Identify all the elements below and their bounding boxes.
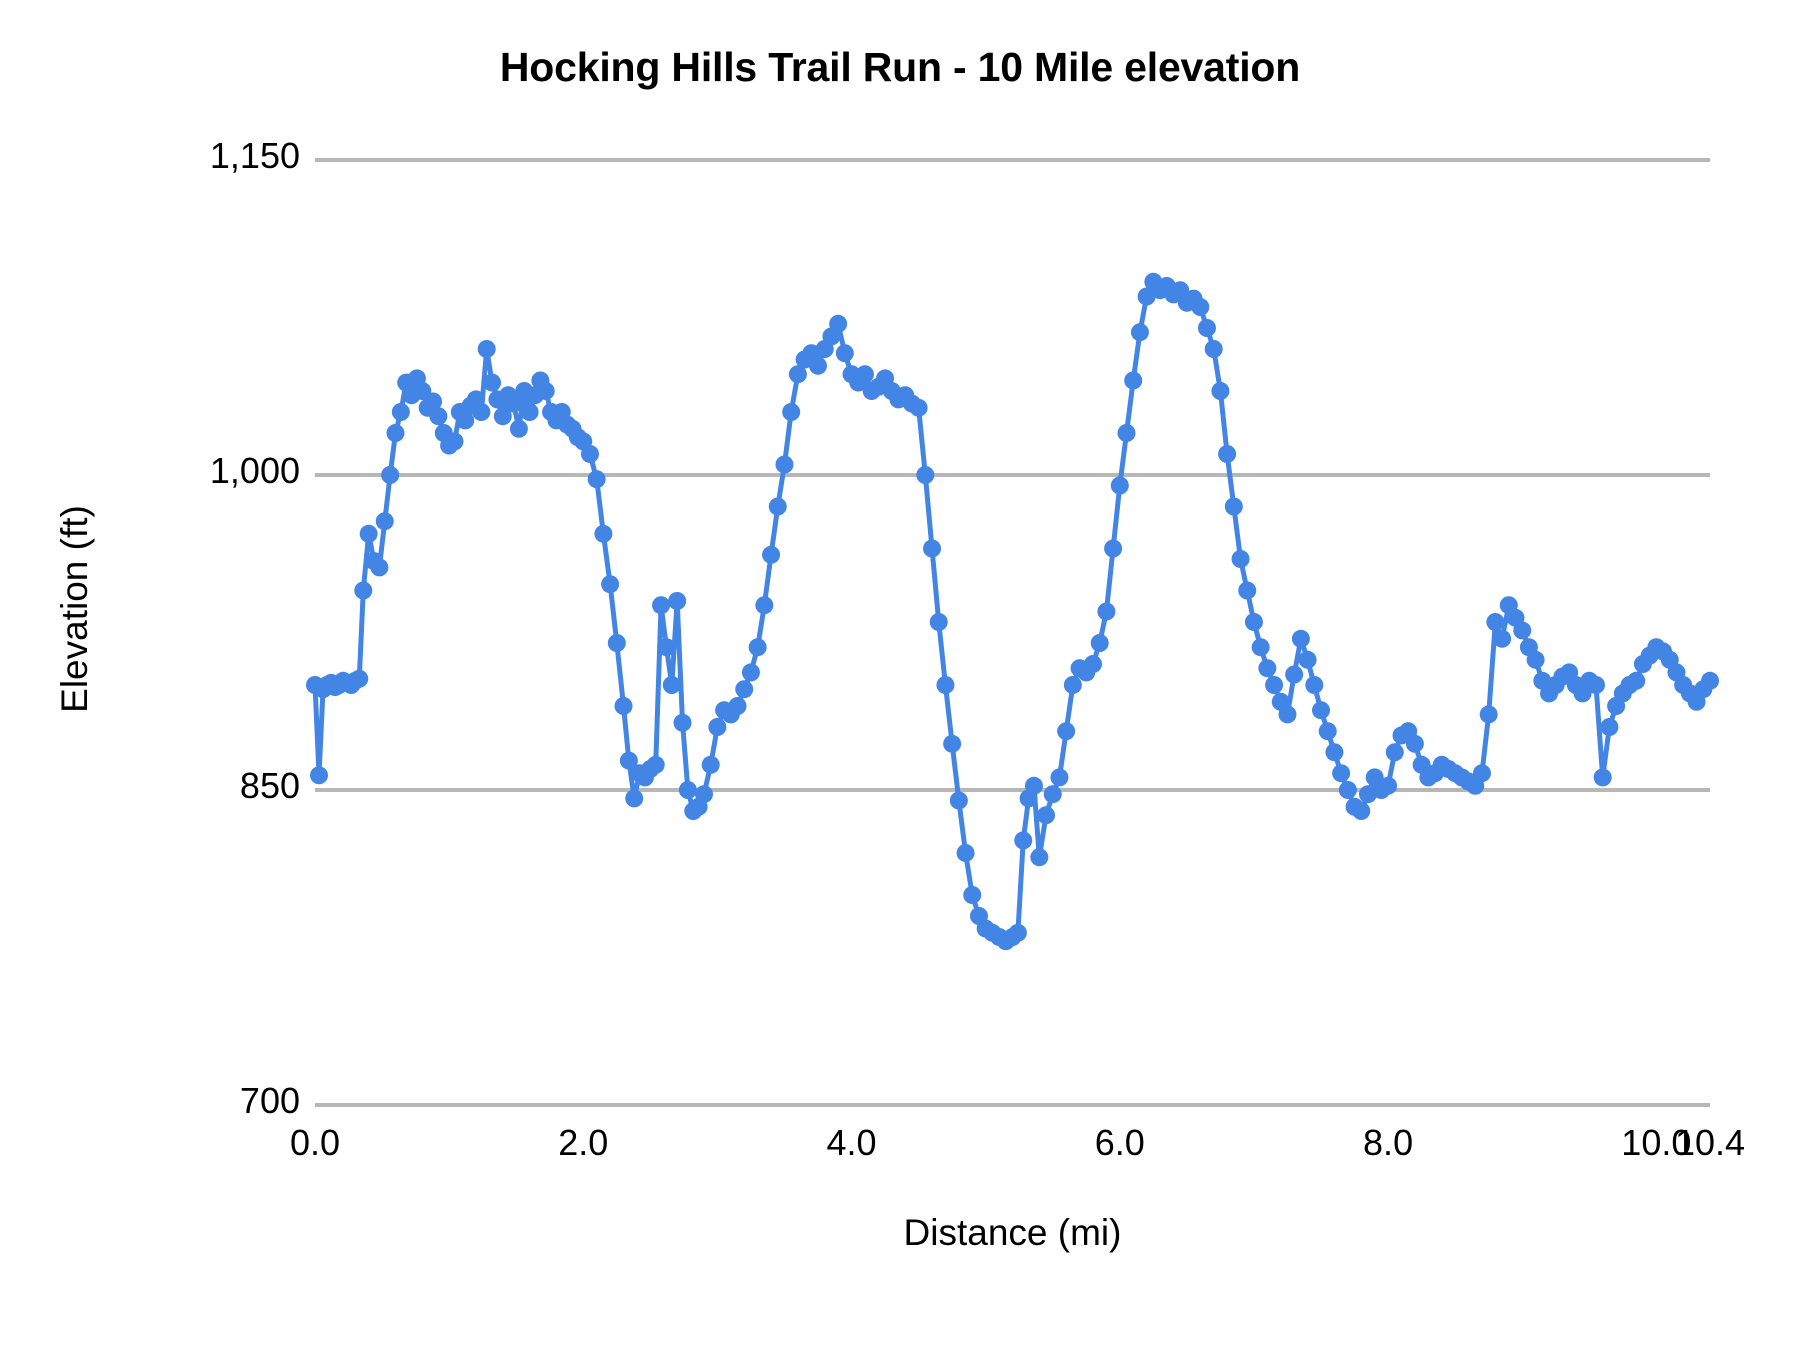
data-point[interactable] [392, 403, 410, 421]
data-point[interactable] [1278, 705, 1296, 723]
data-point[interactable] [1701, 672, 1719, 690]
data-point[interactable] [446, 432, 464, 450]
data-point[interactable] [1292, 630, 1310, 648]
data-point[interactable] [663, 676, 681, 694]
data-point[interactable] [674, 714, 692, 732]
data-point[interactable] [1486, 613, 1504, 631]
data-point[interactable] [472, 403, 490, 421]
data-point[interactable] [930, 613, 948, 631]
data-point[interactable] [1379, 777, 1397, 795]
data-point[interactable] [581, 445, 599, 463]
data-point[interactable] [916, 466, 934, 484]
data-point[interactable] [310, 766, 328, 784]
data-point[interactable] [1030, 848, 1048, 866]
data-point[interactable] [957, 844, 975, 862]
data-point[interactable] [1587, 676, 1605, 694]
data-point[interactable] [729, 697, 747, 715]
data-point[interactable] [829, 315, 847, 333]
x-axis-tick-label: 0.0 [290, 1122, 340, 1164]
data-point[interactable] [381, 466, 399, 484]
data-point[interactable] [1252, 638, 1270, 656]
y-axis-tick-label: 850 [120, 765, 300, 807]
data-point[interactable] [625, 789, 643, 807]
data-point[interactable] [1050, 768, 1068, 786]
data-point[interactable] [510, 420, 528, 438]
data-point[interactable] [1299, 651, 1317, 669]
data-point[interactable] [1025, 777, 1043, 795]
data-point[interactable] [647, 756, 665, 774]
x-axis-tick-label: 10.4 [1675, 1122, 1745, 1164]
data-point[interactable] [1473, 764, 1491, 782]
data-point[interactable] [1600, 718, 1618, 736]
data-point[interactable] [708, 718, 726, 736]
data-point[interactable] [354, 582, 372, 600]
data-point[interactable] [1104, 540, 1122, 558]
data-point[interactable] [1238, 582, 1256, 600]
data-point[interactable] [1064, 676, 1082, 694]
data-point[interactable] [1084, 655, 1102, 673]
x-axis-tick-label: 6.0 [1095, 1122, 1145, 1164]
data-point[interactable] [360, 525, 378, 543]
data-point[interactable] [735, 680, 753, 698]
data-point[interactable] [755, 596, 773, 614]
data-point[interactable] [1594, 768, 1612, 786]
data-point[interactable] [1352, 802, 1370, 820]
data-point[interactable] [1091, 634, 1109, 652]
series-line [315, 282, 1710, 941]
data-point[interactable] [1009, 924, 1027, 942]
y-axis-tick-label: 1,150 [120, 135, 300, 177]
data-point[interactable] [679, 781, 697, 799]
y-axis-tick-labels: 1,1501,000850700 [120, 160, 300, 1105]
data-point[interactable] [1225, 498, 1243, 516]
data-point[interactable] [1339, 781, 1357, 799]
data-point[interactable] [1191, 298, 1209, 316]
data-point[interactable] [836, 344, 854, 362]
data-point[interactable] [749, 638, 767, 656]
data-point[interactable] [1198, 319, 1216, 337]
data-point[interactable] [537, 382, 555, 400]
data-point[interactable] [1044, 785, 1062, 803]
data-point[interactable] [782, 403, 800, 421]
x-axis-title: Distance (mi) [315, 1212, 1710, 1254]
y-axis-tick-label: 1,000 [120, 450, 300, 492]
data-point[interactable] [1332, 764, 1350, 782]
data-point[interactable] [1319, 722, 1337, 740]
data-point[interactable] [615, 697, 633, 715]
data-point[interactable] [950, 792, 968, 810]
data-point[interactable] [1218, 445, 1236, 463]
data-point[interactable] [702, 756, 720, 774]
x-axis-tick-label: 4.0 [827, 1122, 877, 1164]
data-point[interactable] [1406, 735, 1424, 753]
data-point[interactable] [652, 596, 670, 614]
data-point[interactable] [1627, 672, 1645, 690]
x-axis-tick-label: 2.0 [558, 1122, 608, 1164]
data-point[interactable] [1305, 676, 1323, 694]
plot-area [315, 160, 1710, 1105]
data-point[interactable] [762, 546, 780, 564]
data-point[interactable] [1386, 743, 1404, 761]
chart-container: Hocking Hills Trail Run - 10 Mile elevat… [0, 0, 1800, 1350]
data-point[interactable] [657, 638, 675, 656]
data-point[interactable] [386, 424, 404, 442]
y-axis-tick-label: 700 [120, 1080, 300, 1122]
data-point[interactable] [1258, 659, 1276, 677]
data-point[interactable] [1480, 705, 1498, 723]
data-point[interactable] [376, 512, 394, 530]
data-point[interactable] [478, 340, 496, 358]
data-point[interactable] [856, 365, 874, 383]
x-axis-tick-labels: 0.02.04.06.08.010.010.4 [315, 1122, 1710, 1170]
data-point[interactable] [742, 663, 760, 681]
data-point[interactable] [429, 407, 447, 425]
data-point[interactable] [1057, 722, 1075, 740]
data-point[interactable] [1527, 651, 1545, 669]
data-point[interactable] [1211, 382, 1229, 400]
data-point[interactable] [809, 357, 827, 375]
data-point[interactable] [521, 403, 539, 421]
data-point[interactable] [350, 670, 368, 688]
data-point[interactable] [1131, 323, 1149, 341]
data-point[interactable] [594, 525, 612, 543]
data-point[interactable] [588, 470, 606, 488]
data-point[interactable] [1111, 477, 1129, 495]
y-axis-title: Elevation (ft) [54, 444, 96, 774]
data-point[interactable] [1325, 743, 1343, 761]
data-point[interactable] [1232, 550, 1250, 568]
data-point[interactable] [1245, 613, 1263, 631]
data-point[interactable] [943, 735, 961, 753]
data-point[interactable] [769, 498, 787, 516]
data-point[interactable] [923, 540, 941, 558]
data-point[interactable] [668, 592, 686, 610]
data-point[interactable] [1265, 676, 1283, 694]
data-point[interactable] [608, 634, 626, 652]
page-title: Hocking Hills Trail Run - 10 Mile elevat… [0, 44, 1800, 91]
x-axis-tick-label: 8.0 [1363, 1122, 1413, 1164]
data-point[interactable] [910, 399, 928, 417]
data-point[interactable] [370, 558, 388, 576]
data-point[interactable] [1493, 630, 1511, 648]
data-point[interactable] [1205, 340, 1223, 358]
data-point[interactable] [936, 676, 954, 694]
elevation-line-chart-svg [315, 160, 1710, 1105]
data-point[interactable] [695, 785, 713, 803]
data-point[interactable] [1124, 372, 1142, 390]
data-point[interactable] [1097, 603, 1115, 621]
data-point[interactable] [1312, 701, 1330, 719]
data-point[interactable] [1118, 424, 1136, 442]
data-point[interactable] [1037, 806, 1055, 824]
data-point[interactable] [1285, 666, 1303, 684]
data-point[interactable] [483, 374, 501, 392]
data-point[interactable] [1014, 831, 1032, 849]
data-point[interactable] [775, 456, 793, 474]
data-point[interactable] [601, 575, 619, 593]
data-point[interactable] [1513, 621, 1531, 639]
elevation-series[interactable] [306, 273, 1719, 950]
data-point[interactable] [963, 886, 981, 904]
